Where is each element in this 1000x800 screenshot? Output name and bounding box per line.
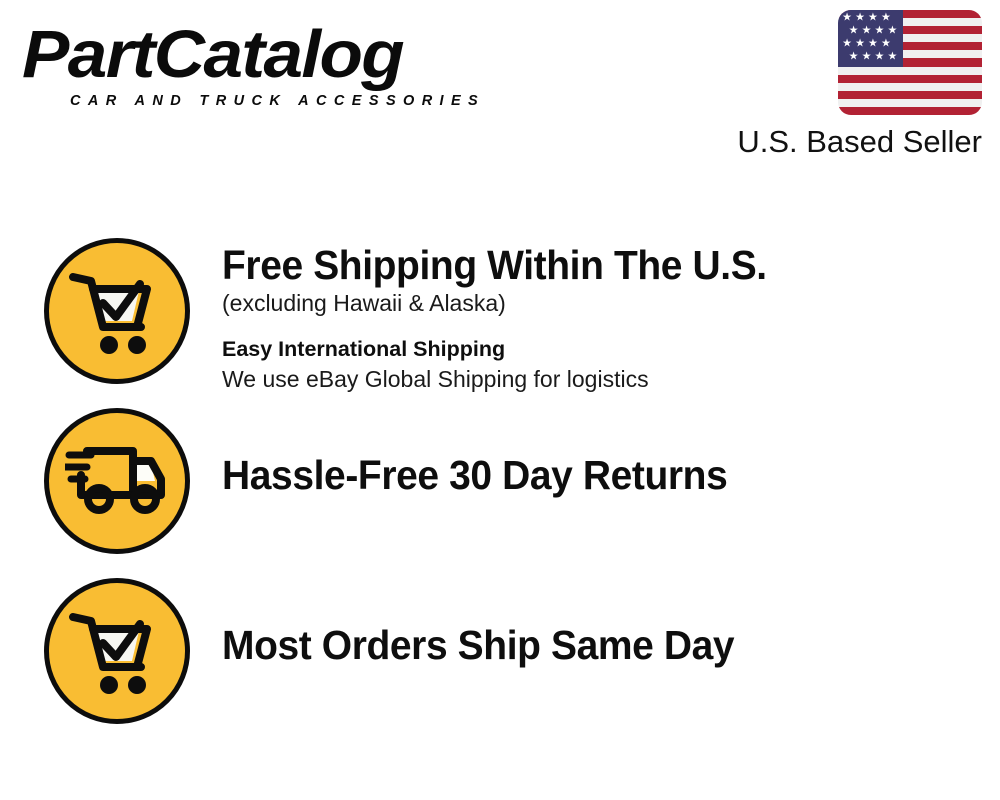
brand-logo[interactable]: PartCatalog CAR AND TRUCK ACCESSORIES: [22, 18, 492, 109]
feature-note: (excluding Hawaii & Alaska): [222, 288, 1000, 318]
feature-text-block: Hassle-Free 30 Day Returns: [222, 408, 1000, 498]
us-based-seller-badge: ★ ★ ★ ★ ★ ★ ★ ★ ★ ★ ★ ★ ★ ★ ★ ★ U.S. Bas…: [737, 10, 982, 160]
feature-title: Most Orders Ship Same Day: [222, 622, 961, 668]
feature-row: Hassle-Free 30 Day Returns: [0, 408, 1000, 554]
page-header: PartCatalog CAR AND TRUCK ACCESSORIES ★ …: [0, 0, 1000, 175]
feature-text-block: Most Orders Ship Same Day: [222, 578, 1000, 668]
shopping-cart-check-icon: [44, 238, 190, 384]
feature-title: Hassle-Free 30 Day Returns: [222, 452, 961, 498]
logo-tagline: CAR AND TRUCK ACCESSORIES: [70, 93, 492, 109]
us-based-seller-label: U.S. Based Seller: [737, 124, 982, 160]
us-flag-icon: ★ ★ ★ ★ ★ ★ ★ ★ ★ ★ ★ ★ ★ ★ ★ ★: [838, 10, 982, 115]
feature-subtext: We use eBay Global Shipping for logistic…: [222, 364, 1000, 394]
logo-wordmark: PartCatalog: [22, 18, 520, 92]
flag-canton: ★ ★ ★ ★ ★ ★ ★ ★ ★ ★ ★ ★ ★ ★ ★ ★: [838, 10, 903, 67]
feature-subtitle: Easy International Shipping: [222, 334, 1000, 364]
feature-text-block: Free Shipping Within The U.S. (excluding…: [222, 238, 1000, 394]
delivery-truck-icon: [44, 408, 190, 554]
feature-title: Free Shipping Within The U.S.: [222, 242, 961, 288]
feature-row: Free Shipping Within The U.S. (excluding…: [0, 238, 1000, 394]
shopping-cart-check-icon: [44, 578, 190, 724]
feature-row: Most Orders Ship Same Day: [0, 578, 1000, 724]
